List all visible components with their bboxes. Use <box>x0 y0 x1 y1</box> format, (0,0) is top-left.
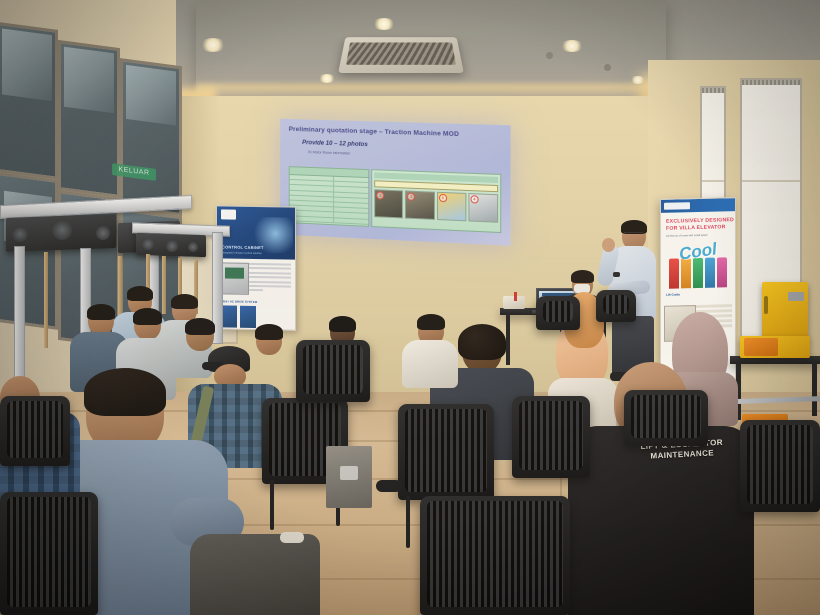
chair-backrest-slats <box>747 425 813 504</box>
slide-table-right: 1 2 3 4 <box>372 169 502 233</box>
downlight <box>372 18 396 30</box>
attendee-hair <box>133 308 162 325</box>
red-marker <box>514 292 517 301</box>
chair-backrest-slats <box>7 401 63 458</box>
blind-rail <box>742 80 800 85</box>
attendee-hair-curly <box>458 324 506 360</box>
attendee-hair <box>329 316 356 332</box>
attendee-hair <box>127 286 153 301</box>
bag-logo <box>340 466 358 480</box>
shoe <box>280 532 304 543</box>
slide-photo-row: 1 2 3 4 <box>375 189 499 222</box>
rig-rod <box>162 256 166 314</box>
rig-rod <box>44 252 48 348</box>
control-cabinet-yellow <box>762 282 808 340</box>
downlight <box>318 74 336 83</box>
chair-backrest-slats <box>7 497 91 607</box>
chair[interactable] <box>0 492 98 615</box>
chair[interactable] <box>0 396 70 466</box>
attendee-trousers-front <box>190 534 320 615</box>
attendee-hair <box>87 304 115 320</box>
chair[interactable] <box>398 404 494 500</box>
chair-backrest-slats <box>303 345 363 394</box>
chair[interactable] <box>624 390 708 446</box>
traction-machine-orange <box>744 338 778 356</box>
table-leg <box>506 313 510 365</box>
banner-header <box>661 198 735 213</box>
ac-grill <box>346 43 456 65</box>
downlight <box>200 38 226 52</box>
poster-control-cabinet: CONTROL CABINET Integrated elevator cont… <box>216 205 296 330</box>
rig-pulley <box>142 238 154 250</box>
shoe <box>376 480 402 492</box>
presenter-watch <box>613 272 620 277</box>
chair-backrest-slats <box>603 295 629 314</box>
slide-photo-4: 4 <box>468 193 498 223</box>
slide-table-left <box>289 166 370 227</box>
rig-pulley <box>166 240 178 252</box>
poster-section-label: MINI / AC DRIVE SYSTEM <box>221 299 291 304</box>
chair[interactable] <box>596 290 636 322</box>
chair-backrest-slats <box>519 401 583 470</box>
chair-leg <box>270 480 274 530</box>
photo-number-badge: 2 <box>407 192 415 200</box>
attendee-hair <box>171 294 198 309</box>
presenter-glasses <box>624 232 643 237</box>
photo-number-badge: 1 <box>376 191 384 199</box>
rig-pulley <box>52 220 72 240</box>
slide-note: 01 Motor Room information <box>308 150 501 161</box>
poster-logo <box>221 209 236 219</box>
photo-number-badge: 4 <box>470 195 478 203</box>
photo-number-badge: 3 <box>439 193 447 201</box>
blind-rail <box>702 88 724 93</box>
air-conditioner-cassette <box>338 37 464 73</box>
chair[interactable] <box>512 396 590 478</box>
slide-photo-3: 3 <box>437 191 467 221</box>
banner-footer-label: Lift Guide <box>666 291 735 297</box>
seminar-room-photo: KELUAR Preliminary quotation stage – Tra… <box>0 0 820 615</box>
rig-post <box>14 246 25 378</box>
projection-screen: Preliminary quotation stage – Traction M… <box>280 119 510 246</box>
rig-pulley <box>188 242 198 252</box>
attendee-hair <box>255 324 283 340</box>
chair-backrest-slats <box>427 501 563 607</box>
blind-seam <box>702 180 724 182</box>
operator-hair <box>571 270 594 283</box>
table-leg <box>812 362 817 416</box>
chair[interactable] <box>296 340 370 402</box>
attendee-torso <box>402 340 458 388</box>
slide-photo-2: 2 <box>405 190 434 219</box>
ceiling-sensor <box>546 52 553 59</box>
poster-headline: CONTROL CABINET <box>222 244 264 250</box>
cabinet-label <box>788 292 804 301</box>
blind-seam <box>742 180 800 182</box>
slide-table: 1 2 3 4 <box>289 166 501 233</box>
cabinet-handle <box>764 296 768 314</box>
chair-backrest-slats <box>631 395 701 438</box>
attendee-hair <box>185 318 215 335</box>
chair[interactable] <box>536 296 580 330</box>
poster-body: MINI / AC DRIVE SYSTEM <box>217 258 295 337</box>
attendee-hair-front <box>84 368 166 416</box>
rig-pulley <box>96 226 110 240</box>
presenter-hand <box>602 238 615 252</box>
ceiling-sensor <box>604 64 611 71</box>
banner-logo <box>664 202 690 210</box>
banner-line-2: FOR VILLA ELEVATOR <box>666 224 735 232</box>
chair-leg <box>406 496 410 548</box>
chair-backrest-slats <box>405 409 487 492</box>
attendee-hair <box>417 314 445 330</box>
chair[interactable] <box>740 420 820 512</box>
downlight <box>560 40 584 52</box>
chair[interactable] <box>420 496 570 615</box>
downlight <box>630 76 646 84</box>
chair-backrest-slats <box>543 301 573 322</box>
slide-photo-1: 1 <box>375 189 404 218</box>
rig-pulley <box>12 226 28 242</box>
slide-title: Preliminary quotation stage – Traction M… <box>289 126 501 139</box>
